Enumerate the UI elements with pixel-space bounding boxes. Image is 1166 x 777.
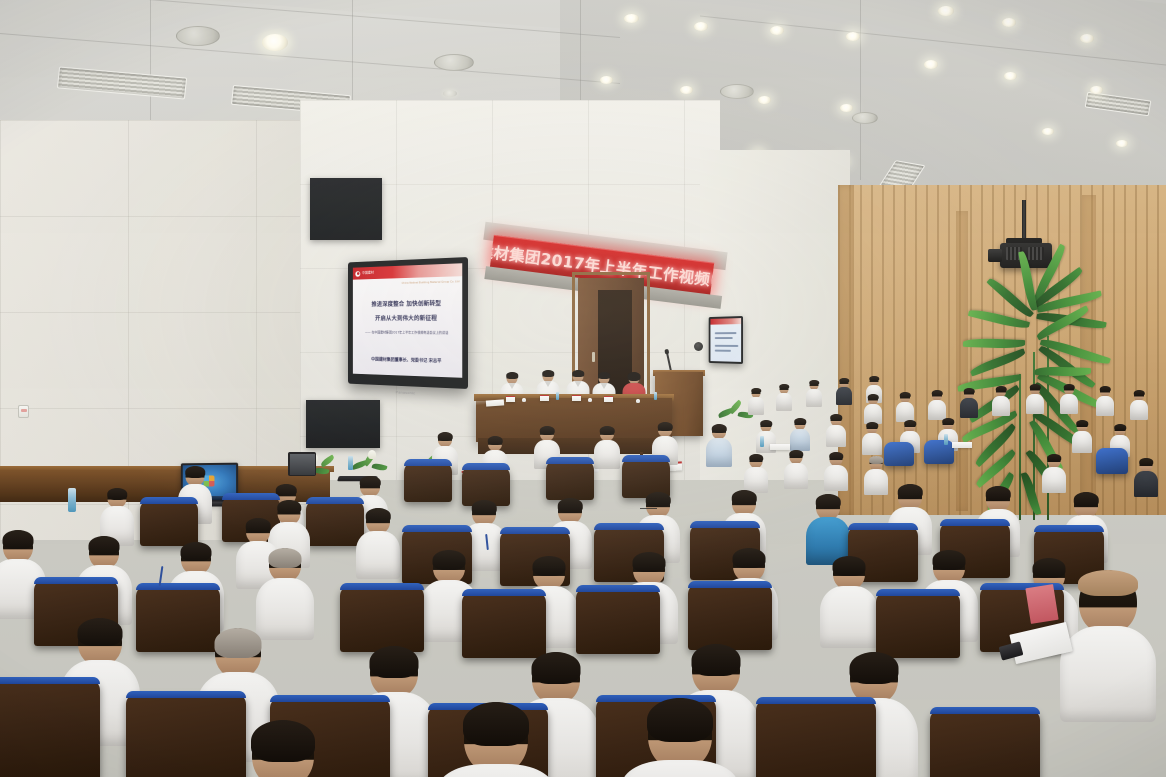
audience-area xyxy=(0,380,1166,777)
ceiling-speaker xyxy=(852,112,878,124)
slide-title-line1: 推进深度整合 加快创新转型 xyxy=(371,298,441,308)
ceiling-seam xyxy=(150,0,151,124)
cnbm-logo-icon xyxy=(355,271,360,277)
audience-member xyxy=(960,388,978,416)
audience-member xyxy=(706,424,732,466)
audience-chair[interactable] xyxy=(546,460,594,500)
audience-chair[interactable] xyxy=(140,500,198,546)
audience-member xyxy=(864,394,882,422)
audience-chair[interactable] xyxy=(576,588,660,654)
ceiling-downlight xyxy=(1090,86,1103,94)
ceiling-downlight xyxy=(600,76,613,84)
ceiling-downlight xyxy=(1004,72,1017,80)
presentation-screen[interactable]: 中国建材 China Natinal Building Material Gro… xyxy=(348,257,468,389)
water-bottle xyxy=(944,434,948,445)
audience-member xyxy=(928,390,946,418)
audience-member xyxy=(1134,458,1158,496)
ceiling-downlight xyxy=(624,14,639,23)
audience-chair[interactable] xyxy=(930,710,1040,777)
audience-chair[interactable] xyxy=(340,586,424,652)
glasses-icon xyxy=(640,508,657,510)
audience-member xyxy=(776,384,792,410)
ceiling-downlight xyxy=(262,34,288,51)
audience-member-foreground xyxy=(438,702,554,777)
audience-member xyxy=(1130,390,1148,418)
ceiling-seam xyxy=(860,0,861,180)
audience-member xyxy=(744,454,768,492)
audience-member xyxy=(836,378,852,404)
projector-mount-pole xyxy=(1022,200,1026,240)
projector-vent xyxy=(1028,247,1044,260)
slide-header-bar: 中国建材 xyxy=(353,263,462,279)
audience-member xyxy=(1072,420,1092,452)
audience-member xyxy=(864,456,888,494)
slide-surface: 中国建材 China Natinal Building Material Gro… xyxy=(353,263,462,378)
slide-title-line2: 开启从大到伟大的新征程 xyxy=(375,313,437,322)
ceiling-downlight xyxy=(840,104,853,112)
audience-chair[interactable] xyxy=(756,700,876,777)
ceiling-downlight xyxy=(846,32,860,41)
audience-member xyxy=(1026,384,1044,412)
audience-member-foreground xyxy=(228,720,338,777)
door-handle[interactable] xyxy=(592,352,595,362)
ceiling-downlight xyxy=(1116,140,1128,147)
acoustic-panel xyxy=(310,178,382,240)
audience-chair[interactable] xyxy=(0,680,100,777)
slide-subtitle: —— 在中国建材集团2017年上半年工作视频电话会议上的讲话 xyxy=(365,330,448,335)
audience-member xyxy=(820,556,878,646)
water-bottle xyxy=(760,436,764,447)
slide-logo-label: 中国建材 xyxy=(362,271,374,276)
audience-member xyxy=(784,450,808,488)
slide-author: 中国建材集团董事长、党委书记 宋志平 xyxy=(371,357,441,365)
audience-member xyxy=(356,508,400,576)
audience-chair[interactable] xyxy=(462,592,546,658)
audience-member xyxy=(826,414,846,446)
ceiling-speaker xyxy=(434,54,474,71)
audience-chair[interactable] xyxy=(876,592,960,658)
wall-speaker-icon xyxy=(694,342,703,351)
ceiling-downlight xyxy=(770,26,784,35)
audience-member xyxy=(256,548,314,638)
audience-member xyxy=(1060,570,1156,720)
audience-member xyxy=(992,386,1010,414)
audience-member xyxy=(862,422,882,454)
audience-member xyxy=(748,388,764,414)
audience-chair[interactable] xyxy=(688,584,772,650)
conference-hall-photo: 中国建材集团2017年上半年工作视频电话会 中国建材 China Natinal… xyxy=(0,0,1166,777)
audience-chair[interactable] xyxy=(404,462,452,502)
audience-member xyxy=(1060,384,1078,412)
audience-member xyxy=(806,494,850,562)
ceiling-downlight xyxy=(938,6,954,16)
audience-member xyxy=(896,392,914,420)
side-wall-monitor[interactable] xyxy=(709,316,743,364)
audience-chair[interactable] xyxy=(1096,448,1128,474)
audience-member-foreground xyxy=(622,698,738,777)
ceiling-downlight xyxy=(443,90,457,97)
document-papers xyxy=(952,442,972,448)
audience-member xyxy=(1096,386,1114,414)
ceiling-downlight xyxy=(1080,34,1094,43)
side-monitor-screen xyxy=(710,318,741,362)
audience-member xyxy=(594,426,620,468)
ceiling-downlight xyxy=(924,60,938,69)
audience-member xyxy=(806,380,822,406)
ceiling-speaker xyxy=(720,84,754,99)
audience-chair[interactable] xyxy=(884,442,914,466)
ceiling-downlight xyxy=(694,22,708,31)
ceiling-downlight xyxy=(680,86,693,94)
ceiling-downlight xyxy=(1002,18,1016,27)
audience-member xyxy=(790,418,810,450)
side-monitor-header xyxy=(710,318,741,325)
audience-member xyxy=(1042,454,1066,492)
audience-chair[interactable] xyxy=(924,440,954,464)
ceiling-downlight xyxy=(1042,128,1054,135)
audience-member xyxy=(824,452,848,490)
slide-body: 推进深度整合 加快创新转型 开启从大到伟大的新征程 —— 在中国建材集团2017… xyxy=(353,279,462,378)
ceiling-downlight xyxy=(758,96,771,104)
ceiling-speaker xyxy=(176,26,220,46)
projector-lens xyxy=(988,249,1002,262)
document-papers xyxy=(770,444,790,450)
